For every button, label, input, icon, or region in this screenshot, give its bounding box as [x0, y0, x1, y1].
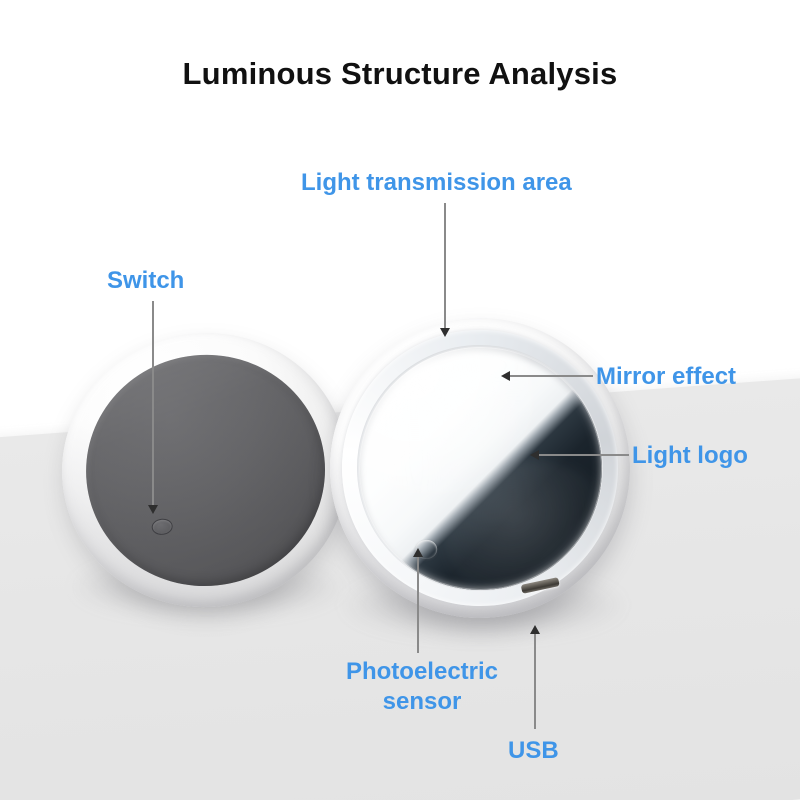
leader-usb	[534, 634, 536, 729]
label-photoelectric-sensor-line1: Photoelectric	[346, 658, 498, 685]
arrowhead-usb	[530, 625, 540, 634]
label-mirror-effect: Mirror effect	[596, 362, 736, 392]
arrowhead-light-transmission-area	[440, 328, 450, 337]
label-usb: USB	[508, 736, 559, 766]
arrowhead-light-logo	[530, 450, 539, 460]
arrowhead-photoelectric-sensor	[413, 548, 423, 557]
page-title: Luminous Structure Analysis	[0, 56, 800, 92]
infographic-canvas: Luminous Structure Analysis Light transm…	[0, 0, 800, 800]
leader-switch	[152, 301, 154, 509]
label-light-transmission-area: Light transmission area	[301, 168, 572, 198]
leader-photoelectric-sensor	[417, 557, 419, 653]
leader-light-transmission-area	[444, 203, 446, 331]
label-light-logo: Light logo	[632, 441, 748, 471]
label-switch: Switch	[107, 266, 184, 296]
label-photoelectric-sensor-line2: sensor	[383, 688, 462, 715]
arrowhead-mirror-effect	[501, 371, 510, 381]
label-photoelectric-sensor: Photoelectric sensor	[337, 657, 507, 717]
arrowhead-switch	[148, 505, 158, 514]
leader-light-logo	[538, 454, 629, 456]
leader-mirror-effect	[509, 375, 593, 377]
